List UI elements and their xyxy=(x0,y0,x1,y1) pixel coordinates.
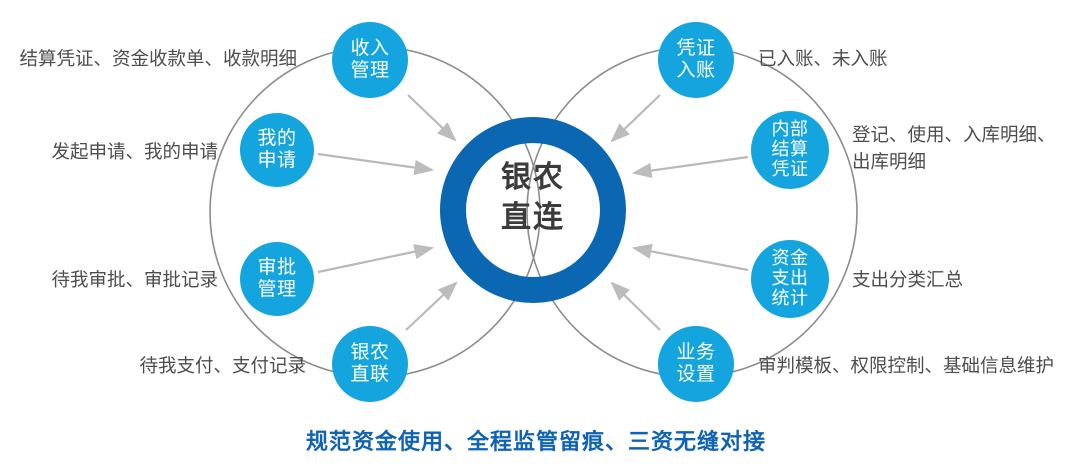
node-approval-management[interactable]: 审批管理 xyxy=(240,242,314,316)
label-voucher-posting: 已入账、未入账 xyxy=(758,46,1058,73)
node-voucher-posting-line-2: 入账 xyxy=(676,60,715,82)
diagram-caption: 规范资金使用、全程监管留痕、三资无缝对接 xyxy=(0,424,1072,456)
node-fund-expenditure-statistics-line-3: 统计 xyxy=(772,289,809,309)
label-voucher-posting-line: 已入账、未入账 xyxy=(758,46,1058,73)
node-approval-management-line-1: 审批 xyxy=(257,257,296,279)
label-my-application: 发起申请、我的申请 xyxy=(0,139,218,166)
node-bank-direct-connection-line-2: 直联 xyxy=(350,364,389,386)
label-fund-expenditure-statistics-line: 支出分类汇总 xyxy=(852,267,1072,294)
node-approval-management-line-2: 管理 xyxy=(257,279,296,301)
node-bank-direct-connection[interactable]: 银农直联 xyxy=(332,326,408,402)
node-internal-settlement-voucher-line-1: 内部 xyxy=(772,120,809,140)
label-internal-settlement-voucher-line: 出库明细 xyxy=(852,149,1072,176)
node-bank-direct-connection-line-1: 银农 xyxy=(350,342,389,364)
node-fund-expenditure-statistics-line-2: 支出 xyxy=(772,269,809,289)
label-fund-expenditure-statistics: 支出分类汇总 xyxy=(852,267,1072,294)
center-label-line-1: 银农 xyxy=(440,158,626,198)
node-income-management-line-2: 管理 xyxy=(350,60,389,82)
label-approval-management: 待我审批、审批记录 xyxy=(0,267,218,294)
label-income-management: 结算凭证、资金收款单、收款明细 xyxy=(0,46,297,73)
center-label-line-2: 直连 xyxy=(440,198,626,238)
node-my-application-line-2: 申请 xyxy=(257,150,296,172)
node-business-settings-line-1: 业务 xyxy=(676,342,715,364)
label-approval-management-line: 待我审批、审批记录 xyxy=(0,267,218,294)
label-income-management-line: 结算凭证、资金收款单、收款明细 xyxy=(0,46,297,73)
node-income-management[interactable]: 收入管理 xyxy=(332,22,408,98)
node-business-settings[interactable]: 业务设置 xyxy=(658,326,734,402)
label-business-settings: 审判模板、权限控制、基础信息维护 xyxy=(758,353,1072,380)
node-internal-settlement-voucher-line-2: 结算 xyxy=(772,140,809,160)
label-my-application-line: 发起申请、我的申请 xyxy=(0,139,218,166)
node-my-application[interactable]: 我的申请 xyxy=(240,113,314,187)
node-voucher-posting[interactable]: 凭证入账 xyxy=(658,22,734,98)
node-voucher-posting-line-1: 凭证 xyxy=(676,38,715,60)
label-bank-direct-connection-line: 待我支付、支付记录 xyxy=(0,353,306,380)
node-internal-settlement-voucher[interactable]: 内部结算凭证 xyxy=(751,111,829,189)
label-bank-direct-connection: 待我支付、支付记录 xyxy=(0,353,306,380)
diagram-canvas: 银农 直连 收入管理我的申请审批管理银农直联凭证入账内部结算凭证资金支出统计业务… xyxy=(0,0,1072,471)
label-business-settings-line: 审判模板、权限控制、基础信息维护 xyxy=(758,353,1072,380)
node-fund-expenditure-statistics[interactable]: 资金支出统计 xyxy=(751,240,829,318)
center-label: 银农 直连 xyxy=(440,158,626,237)
node-income-management-line-1: 收入 xyxy=(350,38,389,60)
node-my-application-line-1: 我的 xyxy=(257,128,296,150)
node-business-settings-line-2: 设置 xyxy=(676,364,715,386)
node-fund-expenditure-statistics-line-1: 资金 xyxy=(772,249,809,269)
label-internal-settlement-voucher-line: 登记、使用、入库明细、 xyxy=(852,122,1072,149)
node-internal-settlement-voucher-line-3: 凭证 xyxy=(772,160,809,180)
label-internal-settlement-voucher: 登记、使用、入库明细、出库明细 xyxy=(852,122,1072,176)
